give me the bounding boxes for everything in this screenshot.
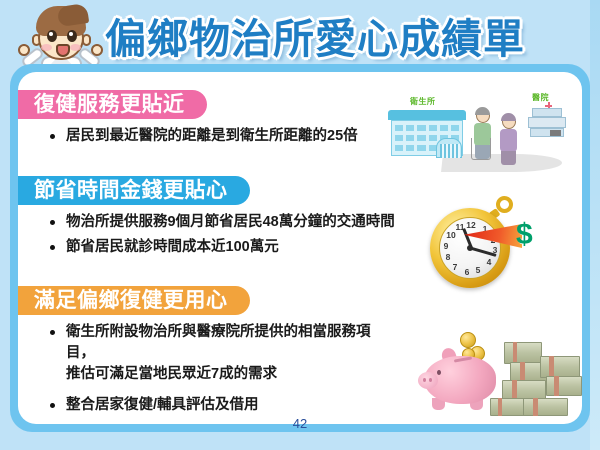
slide-root: 偏鄉物治所愛心成績單 復健服務更貼近 居民到最近醫院的距離是到衛生所距離的25倍… — [0, 0, 600, 450]
bullet-line-1: 衛生所附設物治所與醫療院所提供的相當服務項目， — [66, 324, 371, 361]
pocket-watch-illustration: 12 1 2 3 4 5 6 7 8 9 10 11 $ — [424, 196, 554, 288]
section-badge-rural-rehab: 滿足偏鄉復健更用心 — [18, 286, 250, 315]
mascot-right-hand — [91, 44, 103, 56]
clinic-entrance — [436, 138, 462, 158]
pig-eye — [437, 370, 441, 375]
clock-numeral: 9 — [440, 241, 452, 251]
clock-center-pin — [467, 245, 473, 251]
cash-stack — [504, 342, 542, 364]
clinic-window-row — [395, 125, 459, 131]
bullet-item: 物治所提供服務9個月節省居民48萬分鐘的交通時間 — [48, 212, 408, 233]
page-number: 42 — [0, 416, 600, 431]
watch-face: 12 1 2 3 4 5 6 7 8 9 10 11 — [439, 217, 501, 279]
cash-stack — [546, 376, 582, 396]
section-bullets-rehab-access: 居民到最近醫院的距離是到衛生所距離的25倍 — [48, 126, 378, 151]
mascot-right-cheek — [70, 44, 81, 51]
mascot-hair-fringe — [57, 3, 89, 27]
section-badge-time-money: 節省時間金錢更貼心 — [18, 176, 250, 205]
watch-crown — [496, 196, 513, 213]
mascot-left-eye — [47, 30, 57, 42]
cash-stack — [490, 398, 524, 416]
clinic-roof — [388, 110, 466, 120]
dollar-sign-icon: $ — [516, 218, 533, 252]
clock-numeral: 5 — [472, 265, 484, 275]
watch-case: 12 1 2 3 4 5 6 7 8 9 10 11 — [430, 208, 510, 288]
clock-numeral: 4 — [483, 257, 495, 267]
piggy-bank-money-illustration — [418, 328, 586, 420]
section-badge-rehab-access: 復健服務更貼近 — [18, 90, 207, 119]
bullet-item: 居民到最近醫院的距離是到衛生所距離的25倍 — [48, 126, 378, 147]
pig-snout — [418, 372, 438, 389]
hospital-building-base — [530, 128, 564, 137]
page-title: 偏鄉物治所愛心成績單 — [105, 8, 585, 70]
section-bullets-time-money: 物治所提供服務9個月節省居民48萬分鐘的交通時間 節省居民就診時間成本近100萬… — [48, 212, 408, 262]
clock-numeral: 12 — [465, 220, 477, 230]
clock-numeral: 7 — [449, 262, 461, 272]
bullet-item: 衛生所附設物治所與醫療院所提供的相當服務項目， 推估可滿足當地民眾近7成的需求 — [48, 322, 398, 385]
bullet-item: 節省居民就診時間成本近100萬元 — [48, 237, 408, 258]
cash-stack — [540, 356, 580, 378]
mascot-left-cheek — [41, 44, 52, 51]
mascot-left-hand — [18, 44, 30, 56]
mascot-right-eye — [67, 30, 77, 42]
section-bullets-rural-rehab: 衛生所附設物治所與醫療院所提供的相當服務項目， 推估可滿足當地民眾近7成的需求 … — [48, 322, 398, 420]
clock-numeral: 8 — [442, 252, 454, 262]
hospital-building-mid — [528, 117, 566, 128]
bullet-item: 整合居家復健/輔具評估及借用 — [48, 395, 398, 416]
right-rail-decoration — [590, 0, 600, 450]
health-center-illustration: 衛生所 醫院 — [382, 94, 582, 172]
clock-numeral: 6 — [461, 267, 473, 277]
hospital-building-top — [532, 108, 562, 117]
cash-stack — [522, 398, 568, 416]
clinic-label: 衛生所 — [410, 96, 436, 107]
bullet-line-2: 推估可滿足當地民眾近7成的需求 — [66, 364, 398, 385]
